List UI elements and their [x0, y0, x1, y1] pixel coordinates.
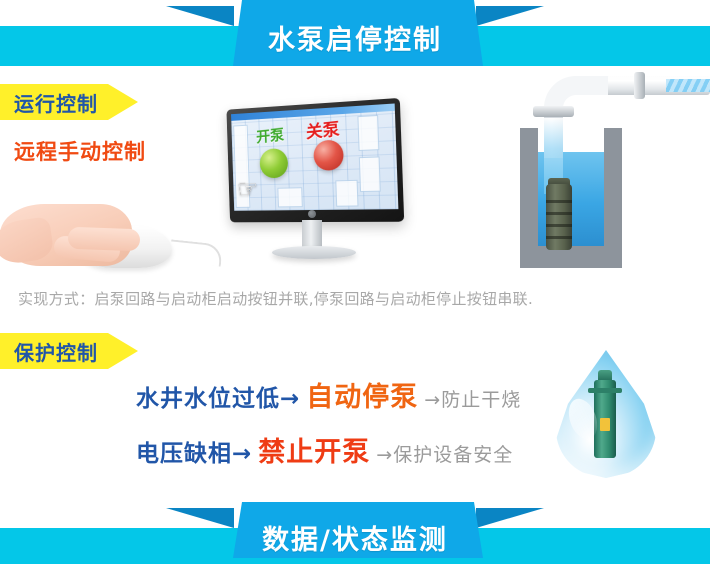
protection-rule-row: 水井水位过低→ 自动停泵 →防止干烧	[136, 375, 521, 414]
submersible-pump-in-well-illustration	[486, 62, 710, 268]
start-pump-label: 开泵	[256, 124, 285, 147]
protection-condition: 水井水位过低→	[136, 379, 300, 413]
pump-band	[546, 212, 572, 215]
protection-action: 禁止开泵	[258, 430, 370, 469]
monitor-screen: 开泵 关泵 ☞	[231, 103, 398, 210]
pump-band	[546, 236, 572, 239]
pump-band	[546, 224, 572, 227]
scada-panel	[357, 115, 379, 151]
protection-effect: →防止干烧	[424, 385, 521, 412]
section-tag-protection-control: 保护控制	[0, 333, 138, 369]
section-tag-protection-control-label: 保护控制	[14, 337, 98, 366]
pump-band	[546, 200, 572, 203]
scada-panel	[359, 156, 381, 192]
monitor-power-indicator	[308, 210, 316, 218]
desktop-monitor-illustration: 开泵 关泵 ☞	[216, 104, 408, 270]
submersible-pump-body	[546, 184, 572, 250]
scada-panel	[277, 187, 302, 207]
mouse-cord	[169, 239, 223, 266]
top-banner-title: 水泵启停控制	[0, 18, 710, 57]
hand-finger	[68, 227, 141, 251]
protection-effect: →保护设备安全	[376, 440, 513, 467]
monitor-stand-base	[272, 246, 356, 259]
stop-pump-label: 关泵	[306, 114, 340, 143]
pipe-water-flow	[666, 79, 710, 92]
pointing-hand-cursor-icon: ☞	[237, 177, 259, 203]
monitor-bezel: 开泵 关泵 ☞	[226, 98, 404, 222]
top-banner: 水泵启停控制	[0, 0, 710, 70]
protection-rule-row: 电压缺相→ 禁止开泵 →保护设备安全	[136, 430, 513, 469]
implementation-caption: 实现方式：启泵回路与启动柜启动按钮并联,停泵回路与启动柜停止按钮串联.	[18, 288, 533, 309]
run-control-subtitle: 远程手动控制	[14, 136, 146, 166]
droplet-pump-fin	[588, 388, 622, 393]
water-droplet-illustration	[548, 344, 666, 484]
droplet-pump-nameplate	[600, 418, 610, 431]
hand-on-mouse-illustration	[0, 180, 206, 276]
protection-action: 自动停泵	[306, 375, 418, 414]
protection-condition: 电压缺相→	[136, 434, 252, 468]
section-tag-run-control-label: 运行控制	[14, 88, 98, 117]
scada-panel	[335, 180, 358, 207]
pipe-collar	[634, 72, 645, 99]
pipe-flange	[533, 106, 574, 117]
section-tag-run-control: 运行控制	[0, 84, 138, 120]
bottom-banner: 数据/状态监测	[0, 494, 710, 564]
bottom-banner-title: 数据/状态监测	[0, 518, 710, 557]
